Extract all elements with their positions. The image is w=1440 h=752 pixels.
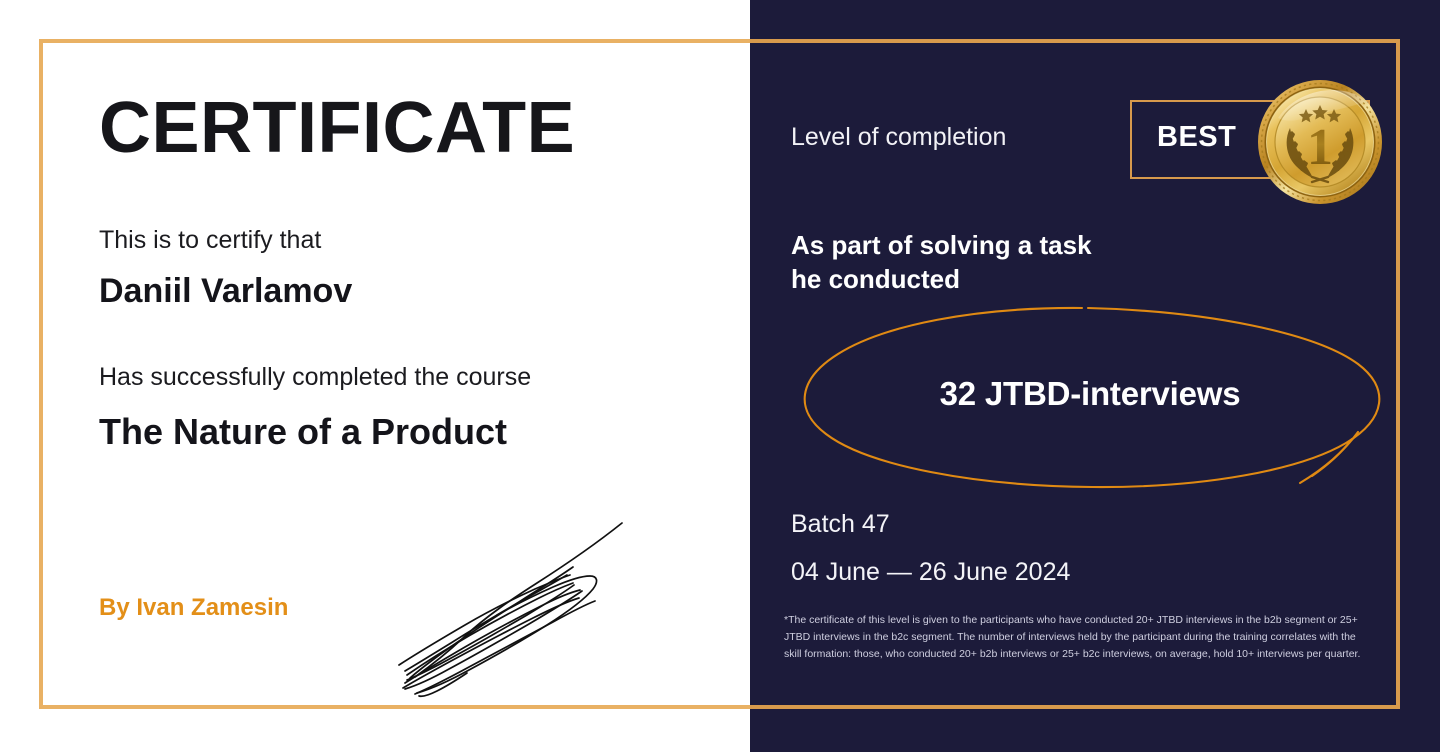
gold-medal-first-place-icon: 1 xyxy=(1256,78,1384,206)
status-badge: BEST xyxy=(1157,123,1236,152)
course-name: The Nature of a Product xyxy=(99,410,507,453)
course-completion-label: Has successfully completed the course xyxy=(99,362,531,392)
interviews-highlight-block: 32 JTBD-interviews xyxy=(780,298,1400,498)
medal-number: 1 xyxy=(1307,119,1333,176)
task-description: As part of solving a task he conducted xyxy=(791,228,1092,297)
batch-number: Batch 47 xyxy=(791,512,890,537)
author-credit: By Ivan Zamesin xyxy=(99,594,288,623)
right-panel-content: Level of completion BEST xyxy=(750,0,1440,752)
disclaimer-text: *The certificate of this level is given … xyxy=(784,612,1372,663)
handwritten-signature-icon xyxy=(377,505,647,700)
recipient-name: Daniil Varlamov xyxy=(99,271,352,312)
interviews-count-highlight: 32 JTBD-interviews xyxy=(780,374,1400,414)
level-of-completion-label: Level of completion xyxy=(791,125,1006,150)
page-title: CERTIFICATE xyxy=(99,92,575,164)
course-date-range: 04 June — 26 June 2024 xyxy=(791,560,1070,585)
task-line-1: As part of solving a task xyxy=(791,230,1092,260)
task-line-2: he conducted xyxy=(791,264,960,294)
left-panel-content: CERTIFICATE This is to certify that Dani… xyxy=(99,0,699,752)
certify-label: This is to certify that xyxy=(99,225,321,255)
certificate-document: CERTIFICATE This is to certify that Dani… xyxy=(0,0,1440,752)
